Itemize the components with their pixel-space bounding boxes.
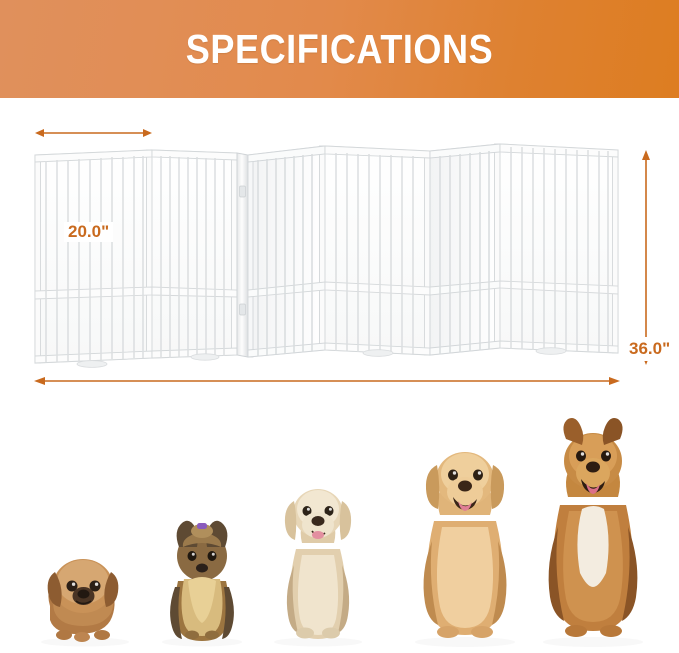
dimension-annotations xyxy=(0,98,679,405)
dog-size-comparison-row xyxy=(0,405,679,653)
product-diagram: 20.0" 36.0" Expandable for120.0" width xyxy=(0,98,679,405)
dog-golden-retriever xyxy=(398,429,533,647)
height-dimension-arrow xyxy=(642,150,650,365)
gate-height-label: 36.0" xyxy=(626,337,673,361)
header-banner: SPECIFICATIONS xyxy=(0,0,679,98)
panel-width-label: 20.0" xyxy=(64,222,113,242)
width-dimension-arrow xyxy=(35,129,152,137)
dog-yorkshire-terrier xyxy=(148,509,256,647)
dog-shepherd-mix xyxy=(524,409,662,647)
hair-bow-icon xyxy=(197,523,207,529)
dog-pekingese-puppy xyxy=(28,542,143,647)
page-title: SPECIFICATIONS xyxy=(41,0,639,98)
dog-labrador-retriever xyxy=(258,465,378,647)
expandable-width-arrow xyxy=(34,377,620,385)
